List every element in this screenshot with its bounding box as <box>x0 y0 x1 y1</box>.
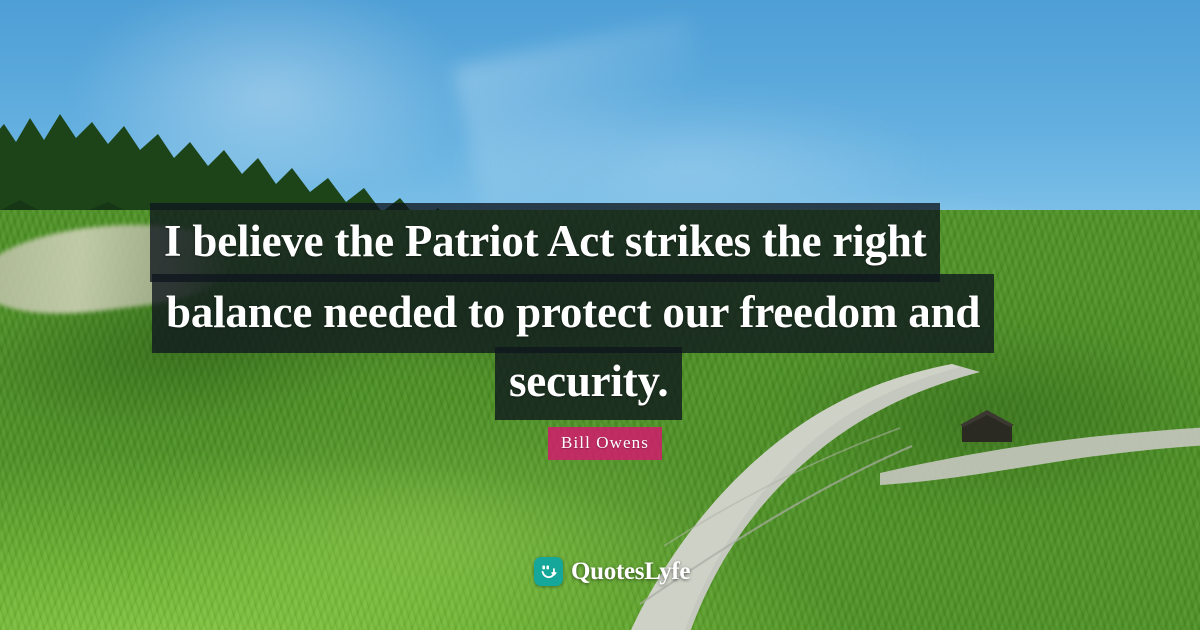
quoteslyfe-logo[interactable]: QuotesLyfe <box>534 557 690 586</box>
quote-marks-icon <box>534 557 563 586</box>
quote-line-3: security. <box>495 347 682 420</box>
quote-line-2: balance needed to protect our freedom an… <box>152 274 994 353</box>
quote-line-1: I believe the Patriot Act strikes the ri… <box>150 203 940 282</box>
author-badge: Bill Owens <box>548 427 662 460</box>
logo-wordmark: QuotesLyfe <box>571 559 690 584</box>
quote-image: I believe the Patriot Act strikes the ri… <box>0 0 1200 630</box>
